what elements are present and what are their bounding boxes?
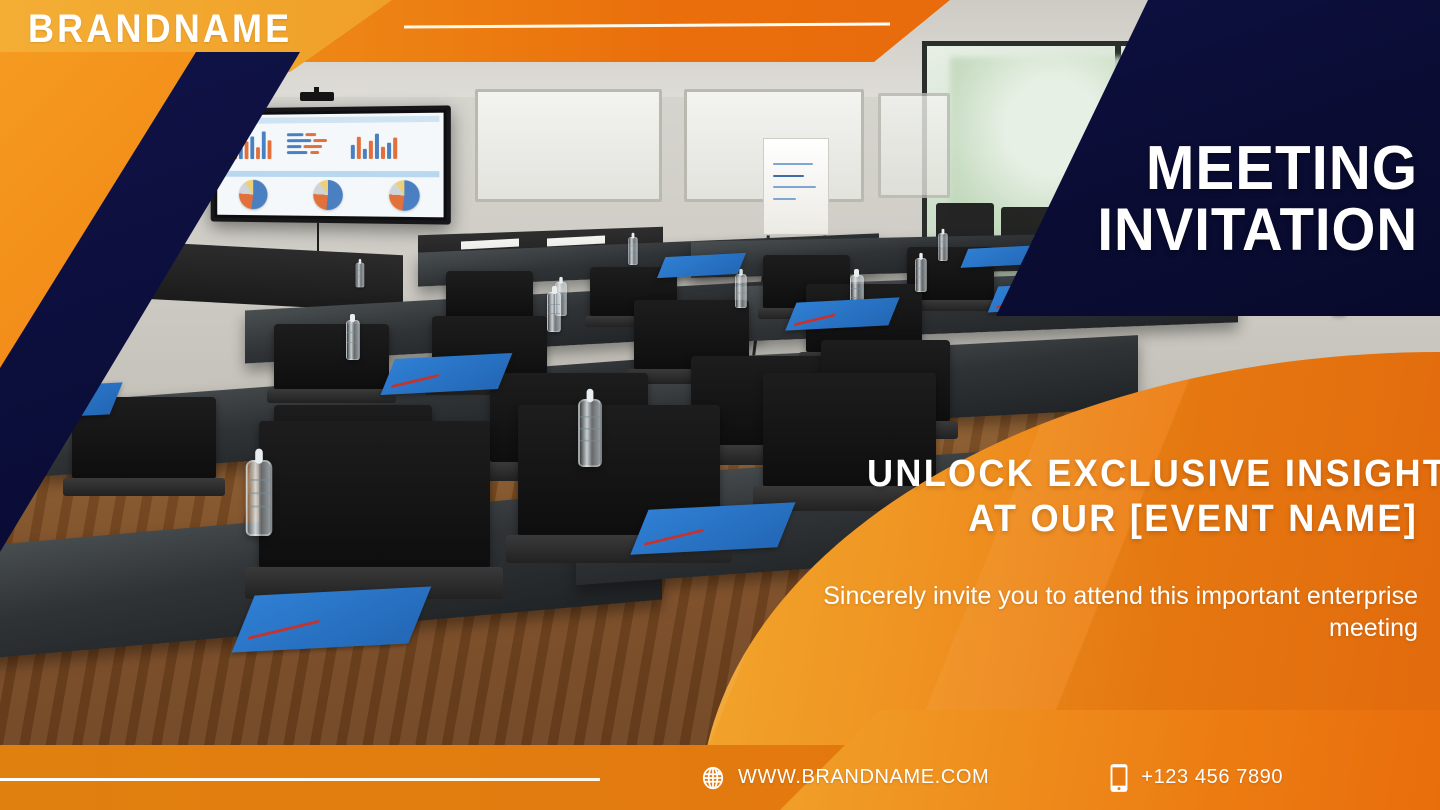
water-bottle: [628, 237, 638, 265]
whiteboard: [475, 89, 662, 202]
page-title: MEETING INVITATION: [1018, 140, 1418, 259]
blue-folder: [380, 353, 512, 395]
blue-folder: [785, 297, 899, 330]
website-label: WWW.BRANDNAME.COM: [738, 766, 989, 789]
headline-line-1: UNLOCK EXCLUSIVE INSIGHTS: [867, 452, 1418, 497]
phone-label: +123 456 7890: [1141, 766, 1283, 789]
bullet-chart: [287, 130, 341, 159]
footer-divider-line: [0, 778, 600, 781]
water-bottle: [938, 233, 948, 261]
flipchart: [763, 138, 829, 235]
blue-folder: [232, 587, 431, 653]
pie-chart: [239, 180, 268, 210]
chair: [274, 324, 389, 389]
water-bottle: [547, 292, 561, 332]
blue-folder: [630, 502, 795, 554]
phone-contact[interactable]: +123 456 7890: [1109, 763, 1283, 793]
water-bottle: [578, 399, 602, 467]
water-bottle: [246, 460, 273, 536]
water-bottle: [355, 263, 364, 288]
chair: [259, 421, 489, 567]
globe-icon: [700, 765, 726, 791]
chair: [446, 271, 532, 320]
headline-line-2: AT OUR [EVENT NAME]: [867, 497, 1418, 542]
water-bottle: [915, 258, 927, 292]
pie-chart: [389, 181, 420, 212]
whiteboard: [878, 93, 950, 198]
pie-chart: [313, 180, 343, 210]
water-bottle: [346, 320, 360, 360]
phone-icon: [1109, 763, 1129, 793]
subtitle: Sincerely invite you to attend this impo…: [798, 580, 1418, 644]
headline: UNLOCK EXCLUSIVE INSIGHTS AT OUR [EVENT …: [838, 452, 1418, 542]
title-line-1: MEETING: [1042, 140, 1418, 198]
invitation-poster: BRANDNAME MEETING INVITATION UNLOCK EXCL…: [0, 0, 1440, 810]
bar-chart-secondary: [350, 130, 396, 159]
title-line-2: INVITATION: [1042, 202, 1418, 258]
website-contact[interactable]: WWW.BRANDNAME.COM: [700, 765, 989, 791]
contact-info: WWW.BRANDNAME.COM +123 456 7890: [680, 745, 1440, 810]
water-bottle: [735, 274, 747, 308]
pie-chart-row: [217, 175, 444, 217]
brand-name: BRANDNAME: [28, 9, 292, 49]
video-camera: [300, 92, 335, 101]
